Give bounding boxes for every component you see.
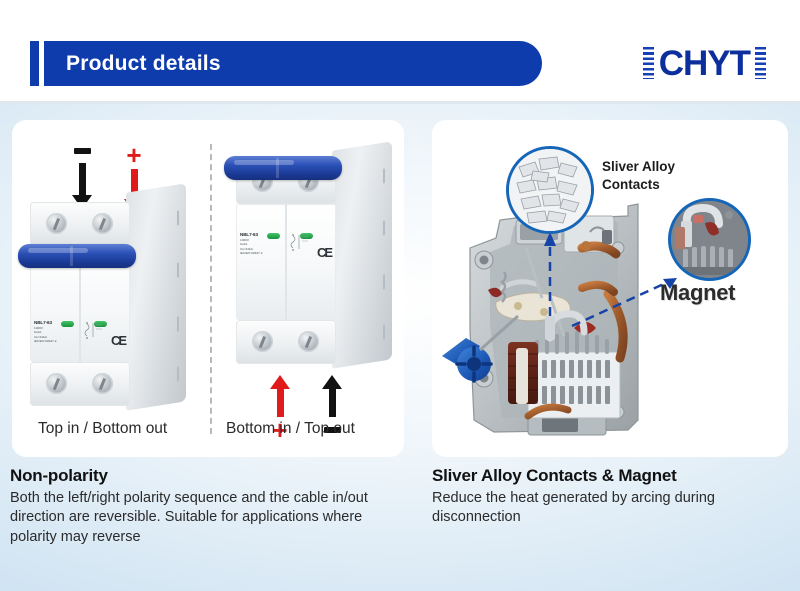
silver-alloy-contacts-label: Sliver Alloy Contacts <box>602 158 675 194</box>
breaker-unit-left: CHYT NBL7-63 1000V 9+0A Icn=10kA IEC/EN … <box>30 202 180 406</box>
contacts-magnet-description-block: Sliver Alloy Contacts & Magnet Reduce th… <box>432 466 792 528</box>
logo-stripes-left-icon <box>643 47 654 79</box>
breaker-cutaway-illustration: Sliver Alloy Contacts Magnet <box>432 120 788 457</box>
status-led-indicator <box>267 233 280 239</box>
card-divider <box>210 144 212 434</box>
arrow-up-head-icon <box>322 375 342 389</box>
plus-sign-icon: + <box>126 146 141 164</box>
header-title-pill: Product details <box>44 41 542 86</box>
non-polarity-title: Non-polarity <box>10 466 410 486</box>
magnet-callout-circle <box>668 198 751 281</box>
logo-text: CHYT <box>659 46 750 81</box>
breaker-bottom-terminal <box>30 362 130 406</box>
polarity-indicator-top-minus <box>72 148 92 209</box>
brand-logo: CHYT <box>643 40 766 86</box>
contacts-magnet-title: Sliver Alloy Contacts & Magnet <box>432 466 792 486</box>
breaker-caption-right: Bottom in / Top out <box>226 420 355 438</box>
callout-label-line2: Contacts <box>602 176 675 194</box>
arrow-shaft <box>329 389 336 417</box>
breaker-top-terminal <box>30 202 130 246</box>
non-polarity-description: Both the left/right polarity sequence an… <box>10 489 410 547</box>
breaker-caption-left: Top in / Bottom out <box>38 420 167 438</box>
ce-mark-icon: CE <box>317 246 331 259</box>
logo-stripes-right-icon <box>755 47 766 79</box>
status-led-indicator <box>61 321 74 327</box>
breaker-side-face <box>332 141 392 369</box>
callout-label-line1: Sliver Alloy <box>602 158 675 176</box>
non-polarity-image-card: + CHYT NBL7-63 <box>12 120 404 457</box>
magnet-label: Magnet <box>660 278 735 307</box>
arrow-up-head-icon <box>270 375 290 389</box>
ce-mark-icon: CE <box>111 334 125 347</box>
magnet-detail-icon <box>671 201 749 279</box>
arrow-shaft <box>79 163 86 195</box>
breaker-front-face: CHYT NBL7-63 1000V 9+0A Icn=10kA IEC/EN … <box>236 204 336 320</box>
silver-chips-icon <box>509 149 591 231</box>
header-accent-bar <box>30 41 39 86</box>
terminal-screw-icon <box>92 213 113 234</box>
wiring-schematic-icon <box>84 320 106 342</box>
breaker-toggle-handle[interactable] <box>224 156 342 180</box>
minus-sign-icon <box>74 148 91 154</box>
page-title: Product details <box>66 52 221 76</box>
arrow-shaft <box>277 389 284 417</box>
handle-highlight <box>234 160 294 165</box>
terminal-screw-icon <box>252 331 273 352</box>
handle-highlight <box>28 248 88 253</box>
silver-alloy-contacts-callout-circle <box>506 146 594 234</box>
terminal-screw-icon <box>46 213 67 234</box>
terminal-screw-icon <box>46 373 67 394</box>
contacts-magnet-image-card: Sliver Alloy Contacts Magnet <box>432 120 788 457</box>
page-header: Product details CHYT <box>0 0 800 104</box>
terminal-screw-icon <box>92 373 113 394</box>
contacts-magnet-description: Reduce the heat generated by arcing duri… <box>432 489 792 528</box>
non-polarity-description-block: Non-polarity Both the left/right polarit… <box>10 466 410 547</box>
breaker-bottom-terminal <box>236 320 336 364</box>
breaker-unit-right: CHYT NBL7-63 1000V 9+0A Icn=10kA IEC/EN … <box>236 160 386 364</box>
wiring-schematic-icon <box>290 232 312 254</box>
breaker-side-face <box>126 183 186 411</box>
breaker-toggle-handle[interactable] <box>18 244 136 268</box>
terminal-screw-icon <box>298 331 319 352</box>
